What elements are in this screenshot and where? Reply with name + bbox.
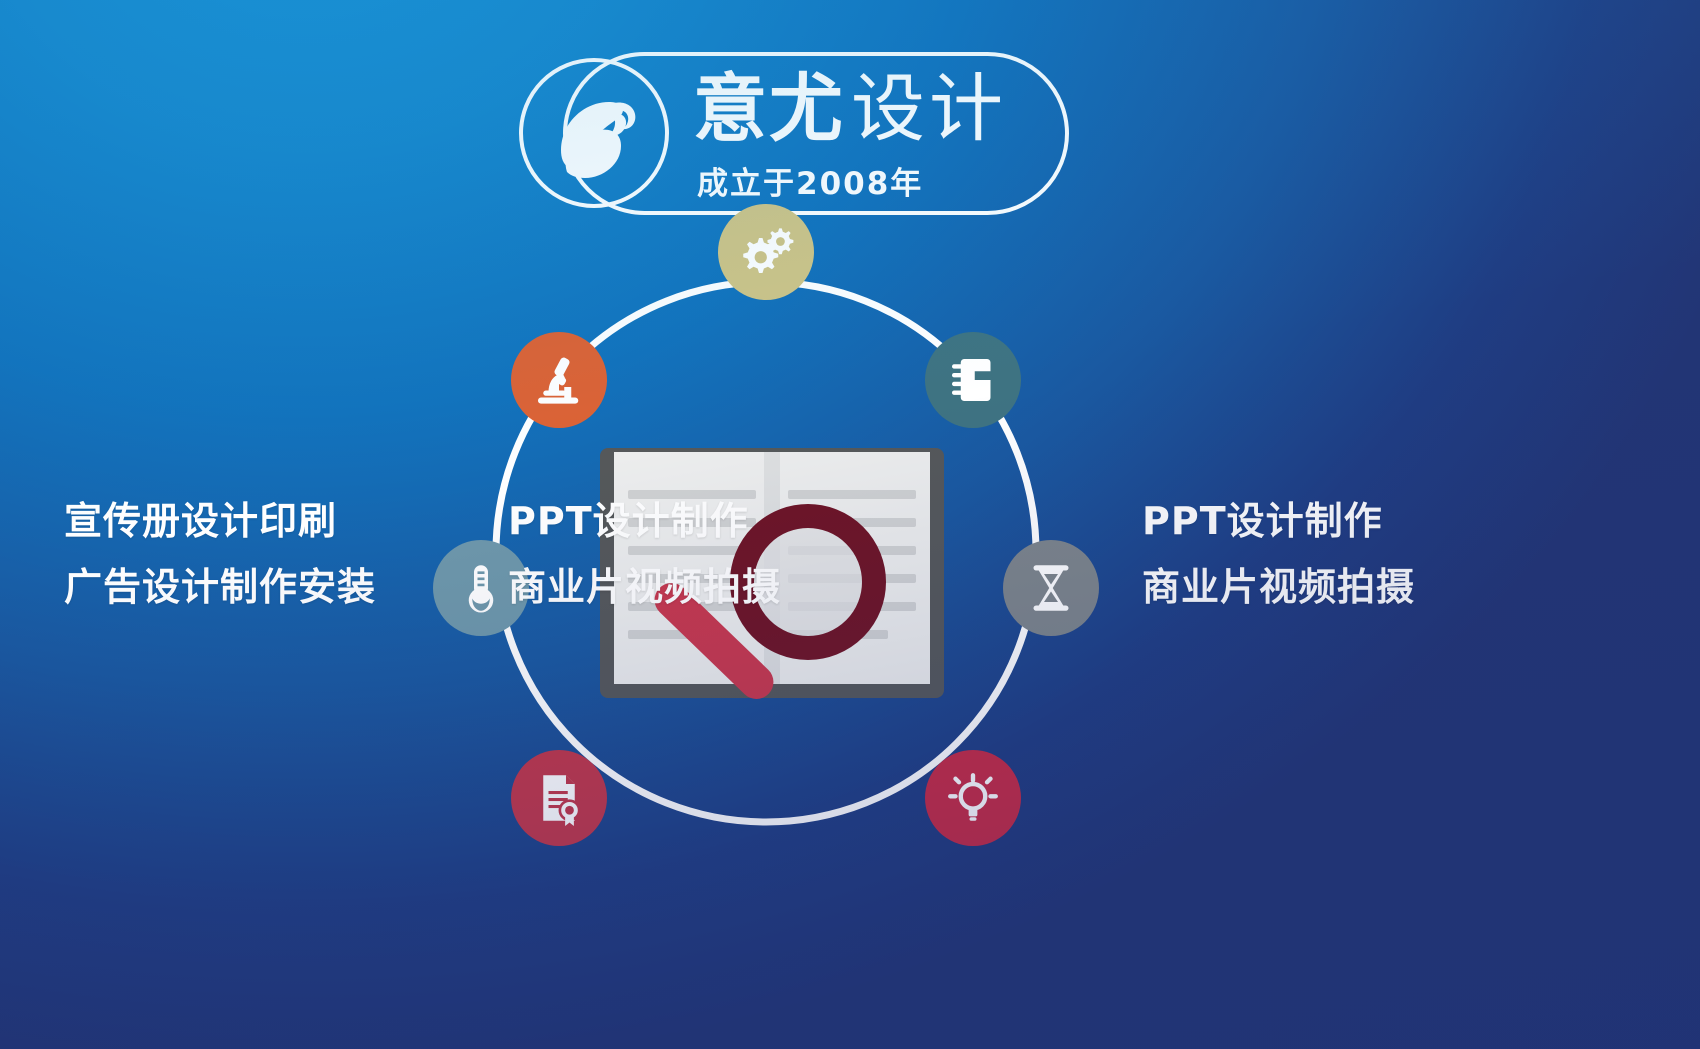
notebook-icon — [945, 352, 1001, 408]
logo-tagline: 成立于2008年 — [697, 158, 923, 203]
logo-brand-thin: 设计 — [851, 72, 1007, 146]
thermometer-icon — [453, 560, 509, 616]
service-right-line1: PPT设计制作 — [1142, 488, 1415, 554]
node-gears[interactable] — [718, 204, 814, 300]
service-right-line2: 商业片视频拍摄 — [1142, 554, 1415, 620]
certificate-icon — [531, 770, 587, 826]
node-hourglass[interactable] — [1003, 540, 1099, 636]
service-text-left: 宣传册设计印刷 广告设计制作安装 — [64, 488, 376, 620]
service-middle-line2: 商业片视频拍摄 — [508, 554, 781, 620]
hourglass-icon — [1023, 560, 1079, 616]
gears-icon — [738, 224, 794, 280]
logo-brand-bold: 意尤 — [693, 72, 845, 146]
node-microscope[interactable] — [511, 332, 607, 428]
service-text-right: PPT设计制作 商业片视频拍摄 — [1142, 488, 1415, 620]
node-lightbulb[interactable] — [925, 750, 1021, 846]
service-left-line2: 广告设计制作安装 — [64, 554, 376, 620]
logo-badge-circle — [519, 58, 669, 208]
node-certificate[interactable] — [511, 750, 607, 846]
logo-wordmark: 意尤 设计 — [693, 72, 1007, 146]
node-notebook[interactable] — [925, 332, 1021, 428]
service-left-line1: 宣传册设计印刷 — [64, 488, 376, 554]
brand-logo: 意尤 设计 成立于2008年 — [519, 52, 1069, 215]
slide-canvas: 意尤 设计 成立于2008年 — [0, 0, 1700, 1049]
lightbulb-icon — [945, 770, 1001, 826]
service-text-middle: PPT设计制作 商业片视频拍摄 — [508, 488, 781, 620]
leaf-bird-mark-icon — [541, 80, 653, 192]
service-middle-line1: PPT设计制作 — [508, 488, 781, 554]
microscope-icon — [531, 352, 587, 408]
